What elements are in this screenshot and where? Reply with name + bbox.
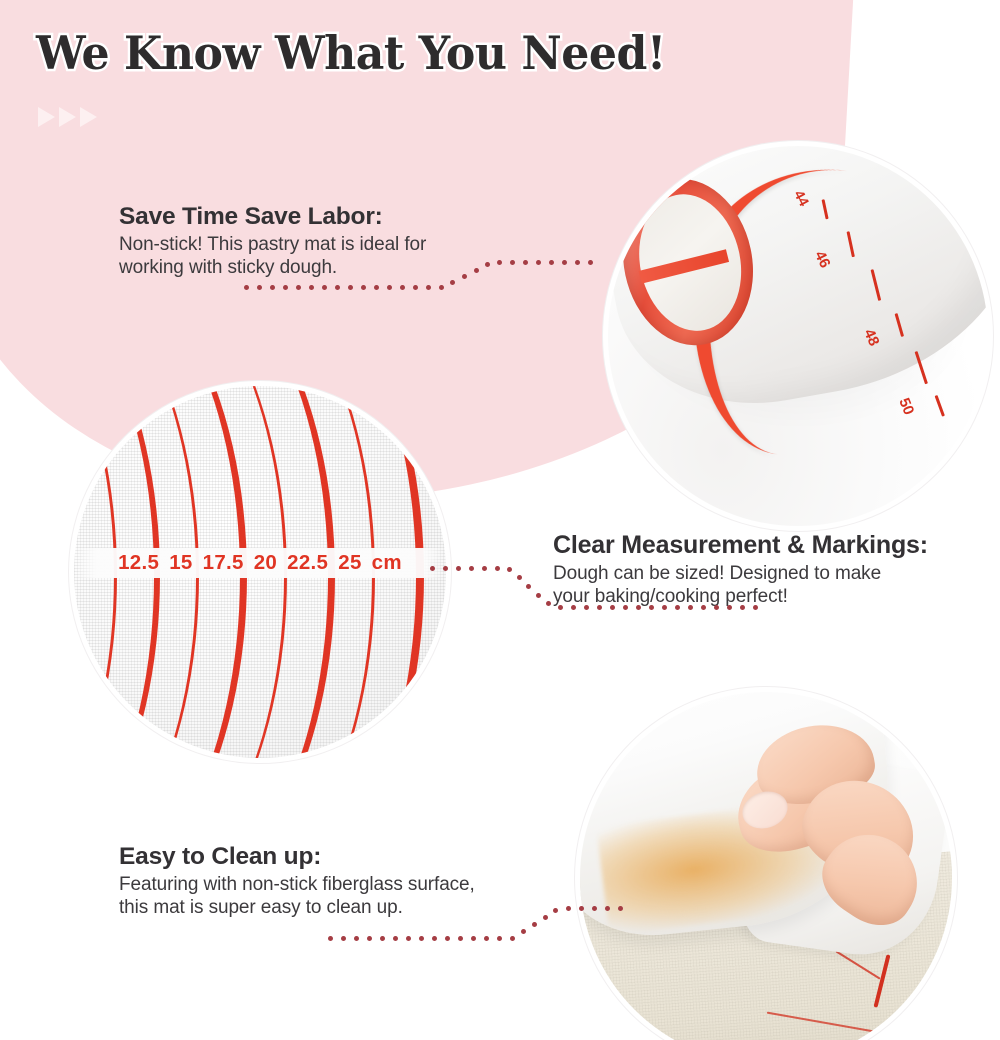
feature-line: Featuring with non-stick fiberglass surf…	[119, 874, 475, 897]
ruler-label-row: 12.5 15 17.5 20 22.5 25 cm	[74, 546, 446, 580]
connector-dot	[471, 936, 476, 941]
feature-line: working with sticky dough.	[119, 257, 426, 280]
connector-dot	[517, 575, 522, 580]
ruler-label: 20	[254, 551, 277, 575]
connector-dot	[406, 936, 411, 941]
ruler-label: 12.5	[118, 551, 159, 575]
connector-dot	[322, 285, 327, 290]
feature-block-clear-measurement: Clear Measurement & Markings: Dough can …	[553, 531, 928, 609]
ruler-label: 15	[169, 551, 192, 575]
connector-dot	[753, 605, 758, 610]
connector-dot	[469, 566, 474, 571]
connector-dot	[714, 605, 719, 610]
connector-dot	[439, 285, 444, 290]
page-title: We Know What You Need!	[36, 26, 666, 80]
connector-dot	[553, 908, 558, 913]
connector-dot	[400, 285, 405, 290]
connector-dot	[445, 936, 450, 941]
connector-dot	[727, 605, 732, 610]
connector-dot	[740, 605, 745, 610]
connector-dot	[257, 285, 262, 290]
feature-title: Clear Measurement & Markings:	[553, 531, 928, 560]
connector-dot	[636, 605, 641, 610]
connector-dot	[688, 605, 693, 610]
feature-block-save-time: Save Time Save Labor: Non-stick! This pa…	[119, 203, 426, 280]
connector-dot	[662, 605, 667, 610]
connector-dot	[618, 906, 623, 911]
chevron-right-icon	[80, 107, 97, 127]
connector-dot	[413, 285, 418, 290]
connector-dot	[462, 274, 467, 279]
ruler-label: 17.5	[203, 551, 244, 575]
connector-dot	[328, 936, 333, 941]
feature-line: this mat is super easy to clean up.	[119, 897, 475, 920]
connector-dot	[597, 605, 602, 610]
connector-dot	[571, 605, 576, 610]
connector-dot	[526, 584, 531, 589]
connector-dot	[474, 268, 479, 273]
ruler-unit-label: cm	[372, 551, 402, 575]
connector-dot	[456, 566, 461, 571]
hand-illustration	[708, 718, 918, 918]
connector-dot	[419, 936, 424, 941]
connector-dot	[521, 929, 526, 934]
chevron-right-icon	[59, 107, 76, 127]
connector-dot	[482, 566, 487, 571]
chevron-right-icon	[38, 107, 55, 127]
connector-dot	[430, 566, 435, 571]
connector-dot	[495, 566, 500, 571]
connector-dot	[443, 566, 448, 571]
connector-dot	[309, 285, 314, 290]
measurement-markings-closeup-photo: 12.5 15 17.5 20 22.5 25 cm	[74, 386, 446, 758]
connector-dot	[623, 605, 628, 610]
chevron-decoration	[38, 107, 97, 127]
connector-dot	[270, 285, 275, 290]
connector-dot	[605, 906, 610, 911]
connector-dot	[380, 936, 385, 941]
ruler-label: 25	[338, 551, 361, 575]
connector-dot	[610, 605, 615, 610]
connector-dot	[675, 605, 680, 610]
connector-dot	[558, 605, 563, 610]
connector-dot	[532, 922, 537, 927]
connector-dot	[244, 285, 249, 290]
connector-dot	[566, 906, 571, 911]
feature-line: Dough can be sized! Designed to make	[553, 563, 928, 586]
connector-dot	[484, 936, 489, 941]
connector-dot	[348, 285, 353, 290]
connector-dot	[701, 605, 706, 610]
connector-dot	[432, 936, 437, 941]
connector-dot	[341, 936, 346, 941]
connector-dot	[354, 936, 359, 941]
connector-dot	[497, 936, 502, 941]
ruler-label: 22.5	[287, 551, 328, 575]
connector-dot	[507, 567, 512, 572]
connector-dot	[579, 906, 584, 911]
feature-title: Easy to Clean up:	[119, 843, 475, 871]
connector-dot	[335, 285, 340, 290]
connector-dot	[426, 285, 431, 290]
connector-dot	[374, 285, 379, 290]
connector-dot	[584, 605, 589, 610]
connector-dot	[543, 915, 548, 920]
connector-dot	[361, 285, 366, 290]
infographic-canvas: We Know What You Need! 44 46 48 50	[0, 0, 1000, 1040]
connector-dot	[510, 936, 515, 941]
feature-block-easy-clean: Easy to Clean up: Featuring with non-sti…	[119, 843, 475, 920]
connector-dot	[536, 593, 541, 598]
connector-dot	[296, 285, 301, 290]
connector-dot	[367, 936, 372, 941]
hand-peeling-mat-photo	[580, 692, 952, 1040]
connector-dot	[592, 906, 597, 911]
connector-dot	[458, 936, 463, 941]
feature-line: Non-stick! This pastry mat is ideal for	[119, 234, 426, 257]
connector-dot	[387, 285, 392, 290]
connector-dot	[649, 605, 654, 610]
connector-dot	[393, 936, 398, 941]
feature-title: Save Time Save Labor:	[119, 203, 426, 231]
rolled-pastry-mat-photo: 44 46 48 50	[608, 146, 988, 526]
connector-dot	[283, 285, 288, 290]
connector-dot	[546, 601, 551, 606]
